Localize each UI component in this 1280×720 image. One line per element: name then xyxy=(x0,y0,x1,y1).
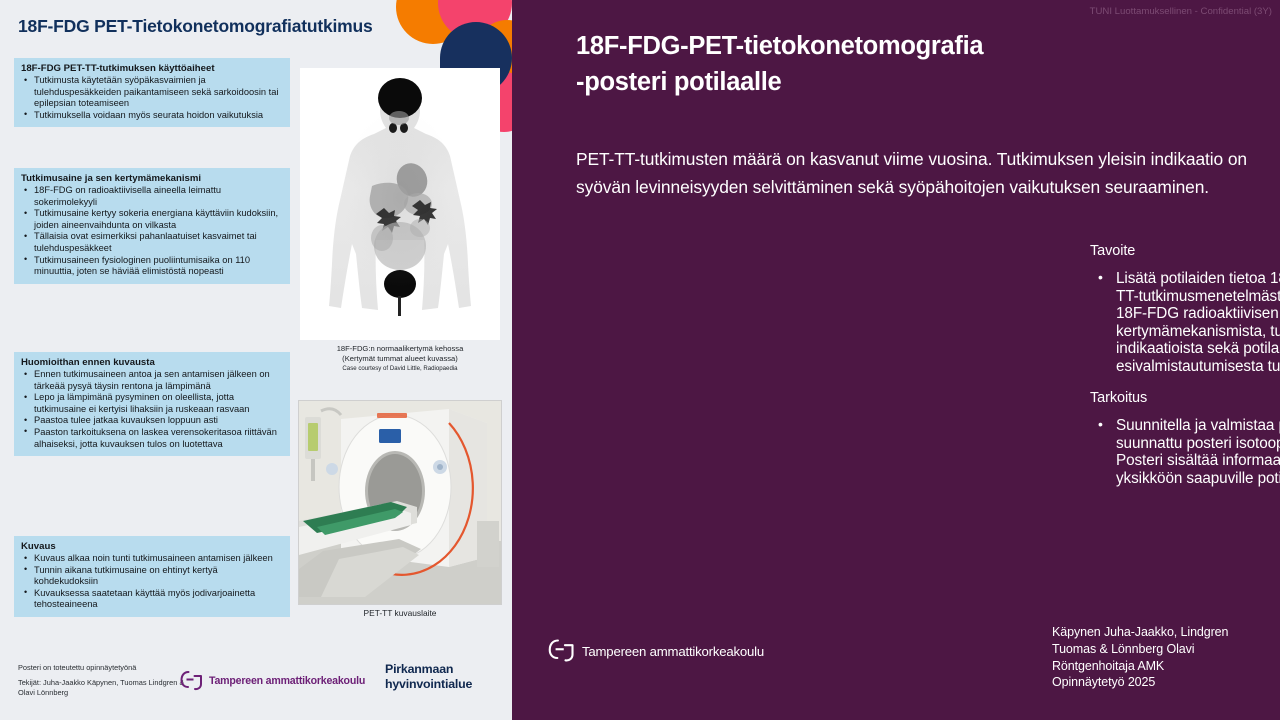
confidentiality-label: TUNI Luottamuksellinen - Confidential (3… xyxy=(1090,6,1272,17)
list-item: Tutkimuksella voidaan myös seurata hoido… xyxy=(21,110,283,122)
list-item: 18F-FDG on radioaktiivisella aineella le… xyxy=(21,185,283,208)
pet-caption-line-1: 18F-FDG:n normaalikertymä kehossa xyxy=(300,344,500,354)
poster-footer-line-2: Tekijät: Juha-Jaakko Käpynen, Tuomas Lin… xyxy=(18,678,198,698)
tamk-logo-mark-icon xyxy=(180,670,204,692)
info-box-list: Ennen tutkimusaineen antoa ja sen antami… xyxy=(21,369,283,450)
column-heading-tarkoitus: Tarkoitus xyxy=(1090,389,1280,408)
list-item: Lepo ja lämpimänä pysyminen on oleellist… xyxy=(21,392,283,415)
logo-tamk-slide: Tampereen ammattikorkeakoulu xyxy=(548,638,764,664)
poster-info-box-tutkimusaine: Tutkimusaine ja sen kertymämekanismi 18F… xyxy=(14,168,290,284)
info-box-heading: 18F-FDG PET-TT-tutkimuksen käyttöaiheet xyxy=(21,63,283,74)
logo-tamk-poster-text: Tampereen ammattikorkeakoulu xyxy=(209,675,365,687)
list-item: Kuvauksessa saatetaan käyttää myös jodiv… xyxy=(21,588,283,611)
pet-scan-figure: 18F-FDG:n normaalikertymä kehossa (Kerty… xyxy=(300,68,500,386)
poster-title: 18F-FDG PET-Tietokonetomografiatutkimus xyxy=(18,16,373,37)
pet-scan-image xyxy=(300,68,500,340)
credits-line-1: Käpynen Juha-Jaakko, Lindgren xyxy=(1052,624,1280,641)
info-box-list: 18F-FDG on radioaktiivisella aineella le… xyxy=(21,185,283,278)
list-item: Paaston tarkoituksena on laskea verensok… xyxy=(21,427,283,450)
logo-tamk-poster: Tampereen ammattikorkeakoulu xyxy=(180,670,365,692)
credits-line-3: Röntgenhoitaja AMK xyxy=(1052,658,1280,675)
list-item: Tunnin aikana tutkimusaine on ehtinyt ke… xyxy=(21,565,283,588)
logo-pirkanmaa-line-1: Pirkanmaan xyxy=(385,662,472,677)
intro-paragraph: PET-TT-tutkimusten määrä on kasvanut vii… xyxy=(576,146,1256,201)
list-item: Ennen tutkimusaineen antoa ja sen antami… xyxy=(21,369,283,392)
list-item: Lisätä potilaiden tietoa 18F-FDG PET-TT-… xyxy=(1090,270,1280,375)
page-title-line-1: 18F-FDG-PET-tietokonetomografia xyxy=(576,28,1236,64)
credits-line-4: Opinnäytetyö 2025 xyxy=(1052,674,1280,691)
credits-line-2: Tuomas & Lönnberg Olavi xyxy=(1052,641,1280,658)
pet-caption-credit: Case courtesy of David Little, Radiopaed… xyxy=(300,364,500,373)
ct-scanner-illustration xyxy=(299,401,501,604)
info-box-list: Tutkimusta käytetään syöpäkasvaimien ja … xyxy=(21,75,283,121)
presentation-slide: 18F-FDG PET-Tietokonetomografiatutkimus … xyxy=(0,0,1280,720)
poster-footer-line-1: Posteri on toteutettu opinnäytetyönä xyxy=(18,662,198,673)
poster-info-box-kayttoaiheet: 18F-FDG PET-TT-tutkimuksen käyttöaiheet … xyxy=(14,58,290,127)
column-heading-tavoite: Tavoite xyxy=(1090,242,1280,261)
tamk-logo-mark-icon xyxy=(548,638,576,664)
slide-content-panel: TUNI Luottamuksellinen - Confidential (3… xyxy=(512,0,1280,720)
info-box-heading: Kuvaus xyxy=(21,541,283,552)
column-left: Tavoite Lisätä potilaiden tietoa 18F-FDG… xyxy=(1090,242,1280,501)
list-item: Tällaisia ovat esimerkiksi pahanlaatuise… xyxy=(21,231,283,254)
ct-scanner-figure: PET-TT kuvauslaite xyxy=(298,400,502,628)
list-item: Suunnitella ja valmistaa potilaille suun… xyxy=(1090,417,1280,487)
pet-scan-caption: 18F-FDG:n normaalikertymä kehossa (Kerty… xyxy=(300,344,500,373)
page-title-line-2: -posteri potilaalle xyxy=(576,64,1236,100)
poster-footer: Posteri on toteutettu opinnäytetyönä Tek… xyxy=(18,662,198,698)
list-item: Tutkimusta käytetään syöpäkasvaimien ja … xyxy=(21,75,283,110)
poster-info-box-huomioithan: Huomioithan ennen kuvausta Ennen tutkimu… xyxy=(14,352,290,456)
pet-caption-line-2: (Kertymät tummat alueet kuvassa) xyxy=(300,354,500,364)
list-item: Paastoa tulee jatkaa kuvauksen loppuun a… xyxy=(21,415,283,427)
info-box-list: Kuvaus alkaa noin tunti tutkimusaineen a… xyxy=(21,553,283,611)
list-item: Tutkimusaineen fysiologinen puoliintumis… xyxy=(21,255,283,278)
poster-panel: 18F-FDG PET-Tietokonetomografiatutkimus … xyxy=(0,0,512,720)
tarkoitus-list: Suunnitella ja valmistaa potilaille suun… xyxy=(1090,417,1280,487)
pet-mip-body-illustration xyxy=(300,68,500,340)
poster-info-box-kuvaus: Kuvaus Kuvaus alkaa noin tunti tutkimusa… xyxy=(14,536,290,617)
list-item: Tutkimusaine kertyy sokeria energiana kä… xyxy=(21,208,283,231)
ct-scanner-caption: PET-TT kuvauslaite xyxy=(298,608,502,618)
info-box-heading: Huomioithan ennen kuvausta xyxy=(21,357,283,368)
list-item: Kuvaus alkaa noin tunti tutkimusaineen a… xyxy=(21,553,283,565)
info-box-heading: Tutkimusaine ja sen kertymämekanismi xyxy=(21,173,283,184)
author-credits: Käpynen Juha-Jaakko, Lindgren Tuomas & L… xyxy=(1052,624,1280,691)
tavoite-list: Lisätä potilaiden tietoa 18F-FDG PET-TT-… xyxy=(1090,270,1280,375)
ct-scanner-photo xyxy=(298,400,502,605)
page-title: 18F-FDG-PET-tietokonetomografia -posteri… xyxy=(576,28,1236,100)
logo-pirkanmaa-line-2: hyvinvointialue xyxy=(385,677,472,692)
logo-tamk-slide-text: Tampereen ammattikorkeakoulu xyxy=(582,644,764,659)
logo-pirkanmaa: Pirkanmaan hyvinvointialue xyxy=(385,662,472,692)
